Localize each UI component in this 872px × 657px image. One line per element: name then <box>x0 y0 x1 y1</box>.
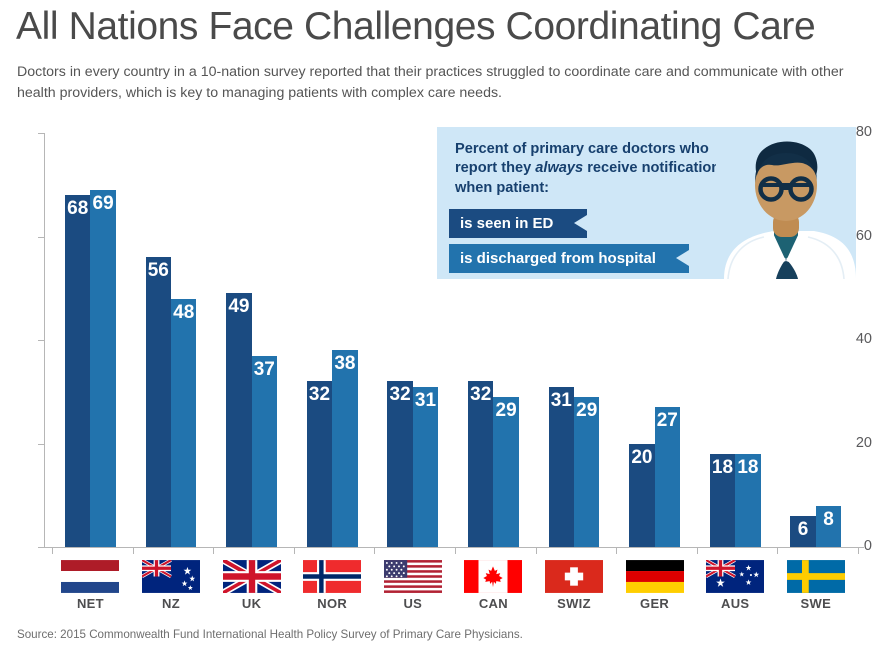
bar-value-label: 31 <box>549 391 574 410</box>
country-label: GER <box>616 597 694 610</box>
switzerland-flag-icon <box>545 560 603 593</box>
bar-value-label: 29 <box>493 401 518 420</box>
country-label: NOR <box>293 597 371 610</box>
legend-label-ed: is seen in ED <box>460 215 553 232</box>
bar-swiz-ed[interactable]: 31 <box>549 387 574 547</box>
country-label: UK <box>213 597 291 610</box>
new-zealand-flag-icon <box>142 560 200 593</box>
x-axis-tick <box>697 547 698 554</box>
bar-value-label: 38 <box>332 354 357 373</box>
x-axis-tick <box>374 547 375 554</box>
y-axis-label: 40 <box>838 332 872 347</box>
flag-cell-swe: SWE <box>777 560 855 610</box>
australia-flag-icon <box>706 560 764 593</box>
country-label: CAN <box>454 597 532 610</box>
bar-value-label: 32 <box>468 385 493 404</box>
bar-ger-discharge[interactable]: 27 <box>655 407 680 547</box>
y-axis-tick <box>38 237 45 238</box>
bar-uk-discharge[interactable]: 37 <box>252 356 277 547</box>
bar-value-label: 32 <box>307 385 332 404</box>
bar-value-label: 6 <box>790 520 815 539</box>
y-axis-label: 20 <box>838 436 872 451</box>
bar-us-ed[interactable]: 32 <box>387 381 412 547</box>
norway-flag-icon <box>303 560 361 593</box>
flag-cell-uk: UK <box>213 560 291 610</box>
flag-cell-can: CAN <box>454 560 532 610</box>
x-axis-tick <box>536 547 537 554</box>
country-label: AUS <box>696 597 774 610</box>
x-axis-tick <box>133 547 134 554</box>
bar-nor-ed[interactable]: 32 <box>307 381 332 547</box>
bar-value-label: 68 <box>65 199 90 218</box>
flag-cell-aus: AUS <box>696 560 774 610</box>
page-title: All Nations Face Challenges Coordinating… <box>16 4 861 50</box>
legend-callout: Percent of primary care doctors who repo… <box>437 127 856 279</box>
x-axis-line <box>44 547 864 548</box>
bar-nz-ed[interactable]: 56 <box>146 257 171 547</box>
bar-ger-ed[interactable]: 20 <box>629 444 654 548</box>
united-kingdom-flag-icon <box>223 560 281 593</box>
y-axis-tick <box>38 133 45 134</box>
infographic-root: All Nations Face Challenges Coordinating… <box>0 0 872 657</box>
canada-flag-icon <box>464 560 522 593</box>
bar-value-label: 56 <box>146 261 171 280</box>
y-axis-tick <box>38 547 45 548</box>
bar-us-discharge[interactable]: 31 <box>413 387 438 547</box>
bar-aus-ed[interactable]: 18 <box>710 454 735 547</box>
x-axis-tick <box>455 547 456 554</box>
bar-value-label: 37 <box>252 360 277 379</box>
ribbon-tail-icon <box>667 244 689 273</box>
bar-value-label: 49 <box>226 297 251 316</box>
bar-value-label: 29 <box>574 401 599 420</box>
country-label: SWIZ <box>535 597 613 610</box>
germany-flag-icon <box>626 560 684 593</box>
doctor-illustration <box>716 127 856 279</box>
country-flag-row: NET NZ UK NOR US <box>0 560 872 620</box>
flag-cell-nz: NZ <box>132 560 210 610</box>
bar-value-label: 48 <box>171 303 196 322</box>
bar-net-ed[interactable]: 68 <box>65 195 90 547</box>
x-axis-tick <box>858 547 859 554</box>
sweden-flag-icon <box>787 560 845 593</box>
y-axis-tick <box>38 340 45 341</box>
bar-value-label: 8 <box>816 510 841 529</box>
bar-can-discharge[interactable]: 29 <box>493 397 518 547</box>
bar-value-label: 32 <box>387 385 412 404</box>
bar-value-label: 69 <box>90 194 115 213</box>
bar-swe-discharge[interactable]: 8 <box>816 506 841 547</box>
flag-cell-us: US <box>374 560 452 610</box>
bar-net-discharge[interactable]: 69 <box>90 190 115 547</box>
bar-swe-ed[interactable]: 6 <box>790 516 815 547</box>
legend-label-discharge: is discharged from hospital <box>460 250 656 267</box>
netherlands-flag-icon <box>61 560 119 593</box>
bar-swiz-discharge[interactable]: 29 <box>574 397 599 547</box>
page-subtitle: Doctors in every country in a 10-nation … <box>17 62 857 104</box>
bar-nz-discharge[interactable]: 48 <box>171 299 196 547</box>
country-label: US <box>374 597 452 610</box>
bar-nor-discharge[interactable]: 38 <box>332 350 357 547</box>
bar-aus-discharge[interactable]: 18 <box>735 454 760 547</box>
x-axis-tick <box>777 547 778 554</box>
flag-cell-nor: NOR <box>293 560 371 610</box>
bar-can-ed[interactable]: 32 <box>468 381 493 547</box>
flag-cell-ger: GER <box>616 560 694 610</box>
x-axis-tick <box>52 547 53 554</box>
country-label: SWE <box>777 597 855 610</box>
y-axis-tick <box>38 444 45 445</box>
country-label: NZ <box>132 597 210 610</box>
bar-value-label: 18 <box>735 458 760 477</box>
flag-cell-net: NET <box>51 560 129 610</box>
bar-value-label: 31 <box>413 391 438 410</box>
callout-lead-emphasis: always <box>535 160 583 176</box>
bar-value-label: 27 <box>655 411 680 430</box>
country-label: NET <box>51 597 129 610</box>
ribbon-tail-icon <box>565 209 587 238</box>
bar-value-label: 18 <box>710 458 735 477</box>
x-axis-tick <box>616 547 617 554</box>
x-axis-tick <box>213 547 214 554</box>
united-states-flag-icon <box>384 560 442 593</box>
y-axis-label: 0 <box>838 539 872 554</box>
bar-value-label: 20 <box>629 448 654 467</box>
callout-lead-text: Percent of primary care doctors who repo… <box>455 140 735 198</box>
bar-uk-ed[interactable]: 49 <box>226 293 251 547</box>
x-axis-tick <box>294 547 295 554</box>
flag-cell-swiz: SWIZ <box>535 560 613 610</box>
source-note: Source: 2015 Commonwealth Fund Internati… <box>17 628 523 641</box>
